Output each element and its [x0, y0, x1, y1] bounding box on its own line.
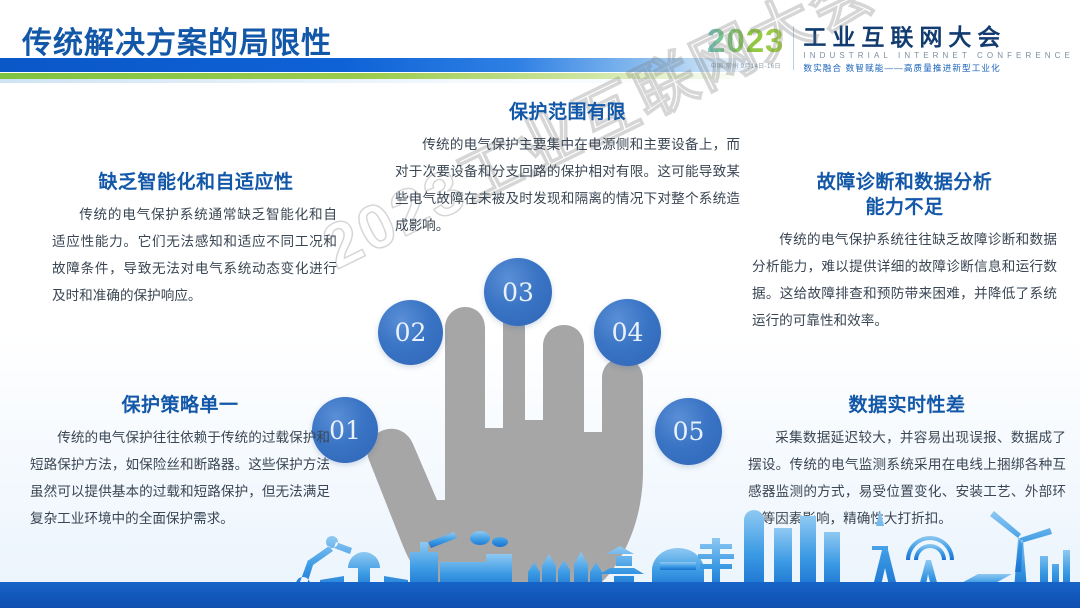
- bottom-blue-band: [0, 582, 1080, 608]
- content-block-limited-scope: 保护范围有限 传统的电气保护主要集中在电源侧和主要设备上，而对于次要设备和分支回…: [395, 100, 740, 240]
- block-body: 传统的电气保护主要集中在电源侧和主要设备上，而对于次要设备和分支回路的保护相对有…: [395, 132, 740, 240]
- page-title: 传统解决方案的局限性: [22, 18, 332, 62]
- step-circle-03[interactable]: 03: [484, 258, 552, 326]
- step-circle-05[interactable]: 05: [655, 398, 722, 465]
- block-body: 传统的电气保护系统通常缺乏智能化和自适应性能力。它们无法感知和适应不同工况和故障…: [52, 202, 337, 310]
- header-accent-bar-blue: [0, 58, 760, 72]
- step-circle-label: 05: [673, 417, 705, 446]
- conference-logo: 2023 中国·常州 9月14日-16日 工业互联网大会 INDUSTRIAL …: [707, 24, 1074, 74]
- block-body: 传统的电气保护系统往往缺乏故障诊断和数据分析能力，难以提供详细的故障诊断信息和运…: [752, 227, 1057, 335]
- step-circle-label: 04: [612, 318, 644, 347]
- block-heading-line2: 能力不足: [752, 195, 1057, 220]
- logo-chinese-name: 工业互联网大会: [803, 24, 1074, 50]
- content-block-lack-of-intelligence: 缺乏智能化和自适应性 传统的电气保护系统通常缺乏智能化和自适应性能力。它们无法感…: [52, 170, 340, 310]
- step-circle-label: 01: [329, 416, 361, 445]
- step-circle-label: 02: [395, 318, 427, 347]
- step-circle-04[interactable]: 04: [594, 299, 661, 366]
- logo-english-name: INDUSTRIAL INTERNET CONFERENCE: [803, 50, 1074, 61]
- step-circle-label: 03: [502, 278, 534, 307]
- block-heading: 数据实时性差: [748, 393, 1066, 418]
- logo-year-subtitle: 中国·常州 9月14日-16日: [711, 61, 781, 70]
- logo-text-group: 工业互联网大会 INDUSTRIAL INTERNET CONFERENCE 数…: [794, 24, 1074, 74]
- content-block-diagnostics: 故障诊断和数据分析 能力不足 传统的电气保护系统往往缺乏故障诊断和数据分析能力，…: [752, 170, 1057, 335]
- logo-year: 2023: [707, 24, 784, 58]
- logo-year-group: 2023 中国·常州 9月14日-16日: [707, 24, 793, 70]
- block-heading-line1: 故障诊断和数据分析: [752, 170, 1057, 195]
- slide-canvas: 传统解决方案的局限性 2023 中国·常州 9月14日-16日 工业互联网大会 …: [0, 0, 1080, 608]
- header-accent-bar-shadow: [0, 79, 740, 83]
- step-circle-02[interactable]: 02: [378, 300, 443, 365]
- block-heading: 保护策略单一: [30, 393, 330, 418]
- block-heading: 缺乏智能化和自适应性: [52, 170, 340, 195]
- logo-tagline: 数实融合 数智赋能——高质量推进新型工业化: [803, 62, 1074, 74]
- block-heading: 保护范围有限: [395, 100, 740, 125]
